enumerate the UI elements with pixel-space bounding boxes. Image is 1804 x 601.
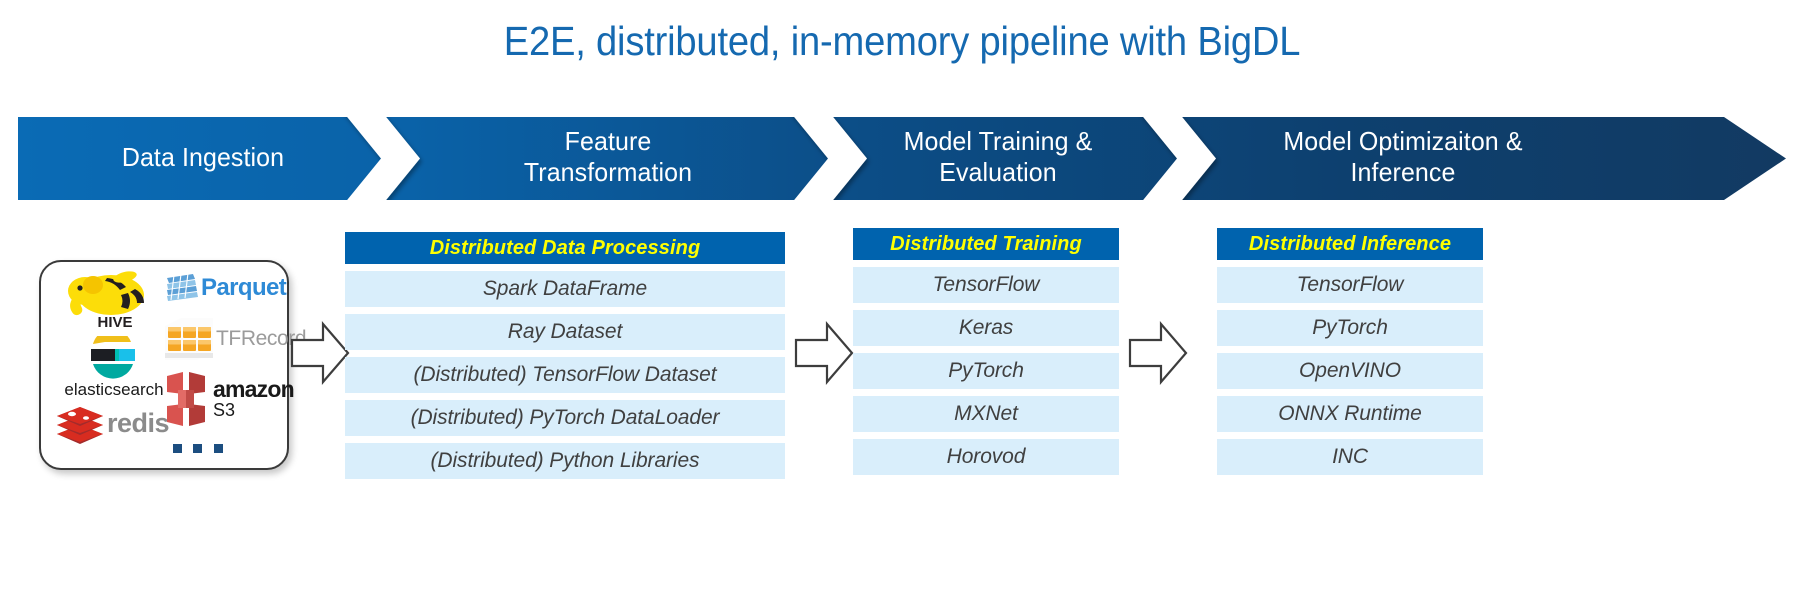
table-row: Horovod — [853, 439, 1119, 475]
table-header: Distributed Training — [853, 228, 1119, 260]
s3-label: S3 — [213, 400, 235, 421]
stage-label-model-training-evaluation: Model Training &Evaluation — [835, 126, 1161, 188]
table-row: Keras — [853, 310, 1119, 346]
table-row: Ray Dataset — [345, 314, 785, 350]
table-header: Distributed Inference — [1217, 228, 1483, 260]
parquet-label: Parquet — [201, 274, 286, 302]
table-row: TensorFlow — [853, 267, 1119, 303]
elasticsearch-logo: elasticsearch — [51, 336, 177, 398]
table-row: TensorFlow — [1217, 267, 1483, 303]
table-row: PyTorch — [853, 353, 1119, 389]
amazon-label: amazon — [213, 376, 294, 403]
table-distributed-data-processing: Distributed Data Processing Spark DataFr… — [345, 232, 785, 479]
ellipsis-dot — [173, 444, 182, 453]
table-header: Distributed Data Processing — [345, 232, 785, 264]
table-row: (Distributed) Python Libraries — [345, 443, 785, 479]
flow-arrow-transformation-to-training — [794, 318, 854, 393]
amazon-s3-logo: amazon S3 — [161, 370, 289, 432]
page-title: E2E, distributed, in-memory pipeline wit… — [63, 18, 1741, 65]
table-row: (Distributed) PyTorch DataLoader — [345, 400, 785, 436]
ellipsis-dot — [214, 444, 223, 453]
pipeline-stage-banner: Data Ingestion FeatureTransformation Mod… — [18, 117, 1786, 200]
table-distributed-training: Distributed Training TensorFlow Keras Py… — [853, 228, 1119, 475]
table-row: ONNX Runtime — [1217, 396, 1483, 432]
stage-label-feature-transformation: FeatureTransformation — [426, 126, 791, 188]
svg-text:HIVE: HIVE — [97, 314, 132, 331]
table-row: PyTorch — [1217, 310, 1483, 346]
data-source-logos-card: HIVE elasticsearch — [39, 260, 289, 470]
parquet-logo: Parquet — [163, 272, 283, 308]
table-row: INC — [1217, 439, 1483, 475]
hive-logo: HIVE — [63, 269, 167, 331]
tfrecord-logo: TFRecord — [161, 312, 287, 370]
table-distributed-inference: Distributed Inference TensorFlow PyTorch… — [1217, 228, 1483, 475]
table-row: OpenVINO — [1217, 353, 1483, 389]
flow-arrow-ingestion-to-transformation — [290, 318, 350, 393]
more-sources-ellipsis — [173, 440, 243, 456]
flow-arrow-training-to-inference — [1128, 318, 1188, 393]
table-row: Spark DataFrame — [345, 271, 785, 307]
stage-label-model-optimization-inference: Model Optimizaiton &Inference — [1206, 126, 1600, 188]
ellipsis-dot — [193, 444, 202, 453]
elasticsearch-label: elasticsearch — [51, 380, 177, 400]
redis-label: redis — [107, 408, 169, 439]
table-row: MXNet — [853, 396, 1119, 432]
table-row: (Distributed) TensorFlow Dataset — [345, 357, 785, 393]
stage-label-data-ingestion: Data Ingestion — [45, 142, 362, 173]
